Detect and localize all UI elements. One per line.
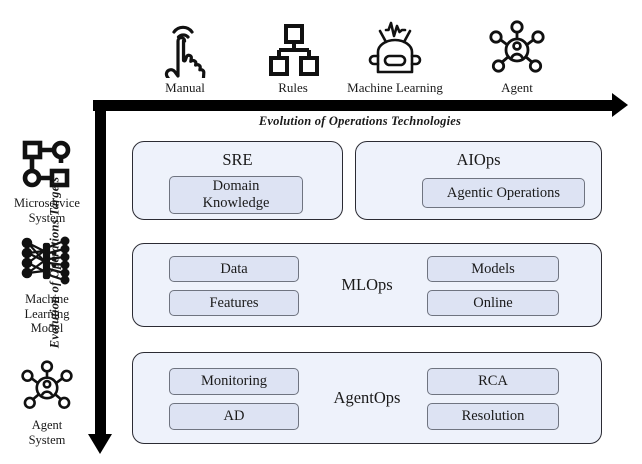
card-mlops[interactable]: MLOps Data Features Models Online: [132, 243, 602, 327]
technology-label: Agent: [472, 80, 562, 95]
target-label: Agent System: [2, 418, 92, 447]
pill-data[interactable]: Data: [169, 256, 299, 282]
technology-axis-strip: Manual Rules: [0, 0, 642, 100]
technology-label: Machine Learning: [340, 80, 450, 95]
technology-item-machine-learning: Machine Learning: [340, 16, 450, 95]
horizontal-axis-arrow: [93, 100, 620, 111]
vertical-axis-arrowhead: [88, 434, 112, 454]
technology-item-manual: Manual: [140, 16, 230, 95]
card-title: AIOps: [356, 150, 601, 170]
pill-rca[interactable]: RCA: [427, 368, 559, 395]
pill-ad[interactable]: AD: [169, 403, 299, 430]
card-agentops[interactable]: AgentOps Monitoring AD RCA Resolution: [132, 352, 602, 444]
technology-item-rules: Rules: [248, 16, 338, 95]
card-title: MLOps: [303, 275, 431, 295]
horizontal-axis-arrowhead: [612, 93, 628, 117]
technology-label: Rules: [248, 80, 338, 95]
card-title: AgentOps: [299, 388, 435, 408]
technology-label: Manual: [140, 80, 230, 95]
vertical-axis-arrow: [95, 100, 106, 440]
hierarchy-icon: [248, 16, 338, 78]
pill-models[interactable]: Models: [427, 256, 559, 282]
pill-agentic-operations[interactable]: Agentic Operations: [422, 178, 585, 208]
pill-domain-knowledge[interactable]: Domain Knowledge: [169, 176, 303, 214]
pill-online[interactable]: Online: [427, 290, 559, 316]
hand-tap-icon: [140, 16, 230, 78]
technology-item-agent: Agent: [472, 16, 562, 95]
card-sre[interactable]: SRE Domain Knowledge: [132, 141, 343, 220]
pill-features[interactable]: Features: [169, 290, 299, 316]
card-title: SRE: [133, 150, 342, 170]
robot-head-icon: [340, 16, 450, 78]
card-aiops[interactable]: AIOps Agentic Operations: [355, 141, 602, 220]
vertical-axis-label: Evolution of Operations Targets: [48, 153, 63, 373]
agent-network-icon: [472, 16, 562, 78]
horizontal-axis-label: Evolution of Operations Technologies: [150, 114, 570, 129]
pill-monitoring[interactable]: Monitoring: [169, 368, 299, 395]
pill-resolution[interactable]: Resolution: [427, 403, 559, 430]
diagram-canvas: Manual Rules: [0, 0, 642, 464]
